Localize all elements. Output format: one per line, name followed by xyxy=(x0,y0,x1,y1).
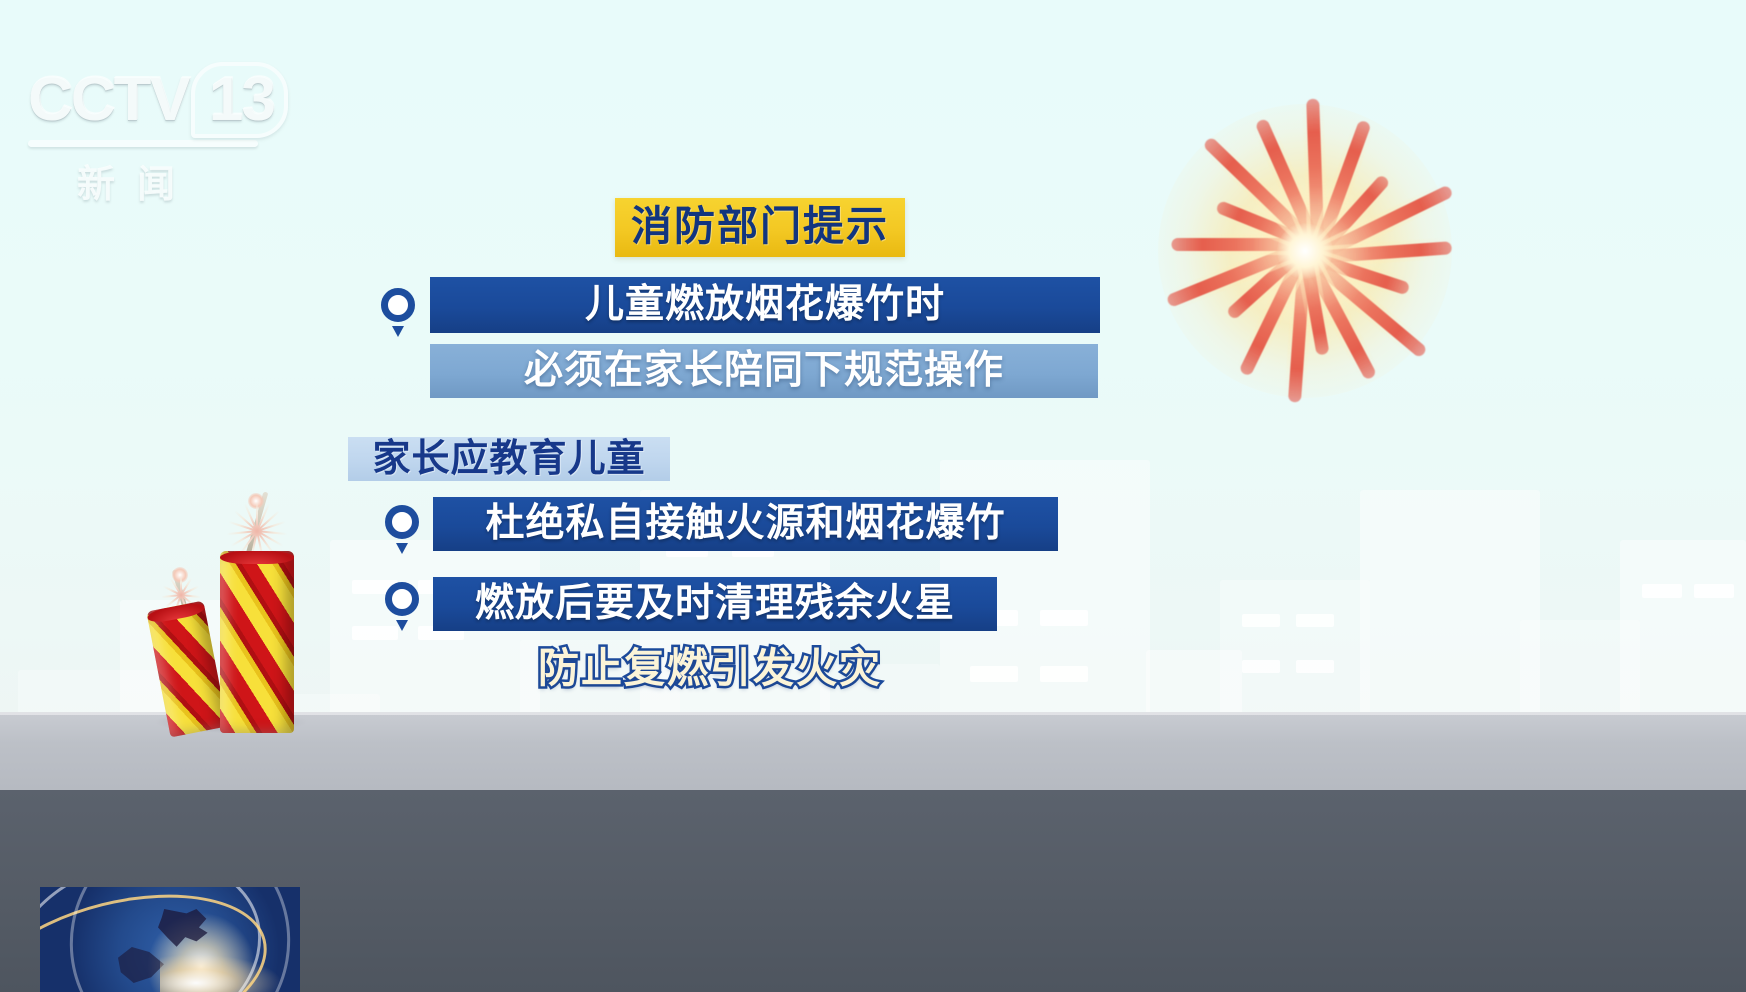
closing-line: 防止复燃引发火灾 xyxy=(520,645,900,691)
marker-triangle xyxy=(396,620,408,631)
tip-line-3: 杜绝私自接触火源和烟花爆竹 xyxy=(433,497,1058,551)
tip-line-1-text: 儿童燃放烟花爆竹时 xyxy=(585,285,945,325)
news-globe-thumbnail-icon xyxy=(40,887,300,992)
graphic-headline: 消防部门提示 xyxy=(615,198,905,257)
target-ring-icon xyxy=(381,288,415,340)
marker-ring xyxy=(381,288,415,322)
closing-line-text: 防止复燃引发火灾 xyxy=(538,645,882,691)
tip-line-2-text: 必须在家长陪同下规范操作 xyxy=(524,351,1004,391)
target-ring-icon xyxy=(385,505,419,557)
broadcast-frame: CCTV13 新闻 xyxy=(0,0,1746,992)
tip-line-4-text: 燃放后要及时清理残余火星 xyxy=(475,584,955,624)
marker-ring xyxy=(385,505,419,539)
section-label: 家长应教育儿童 xyxy=(348,437,670,481)
tip-line-1: 儿童燃放烟花爆竹时 xyxy=(430,277,1100,333)
section-label-text: 家长应教育儿童 xyxy=(372,439,645,479)
tip-line-4: 燃放后要及时清理残余火星 xyxy=(433,577,997,631)
target-ring-icon xyxy=(385,582,419,634)
graphic-headline-text: 消防部门提示 xyxy=(631,203,889,249)
thumbnail-swoosh xyxy=(52,887,300,992)
marker-triangle xyxy=(396,543,408,554)
tip-line-2: 必须在家长陪同下规范操作 xyxy=(430,344,1098,398)
marker-triangle xyxy=(392,326,404,337)
safety-tips-graphic: 消防部门提示 儿童燃放烟花爆竹时 必须在家长陪同下规范操作 家长应教育儿童 杜绝… xyxy=(0,0,1746,790)
tip-line-3-text: 杜绝私自接触火源和烟花爆竹 xyxy=(485,504,1005,544)
marker-ring xyxy=(385,582,419,616)
